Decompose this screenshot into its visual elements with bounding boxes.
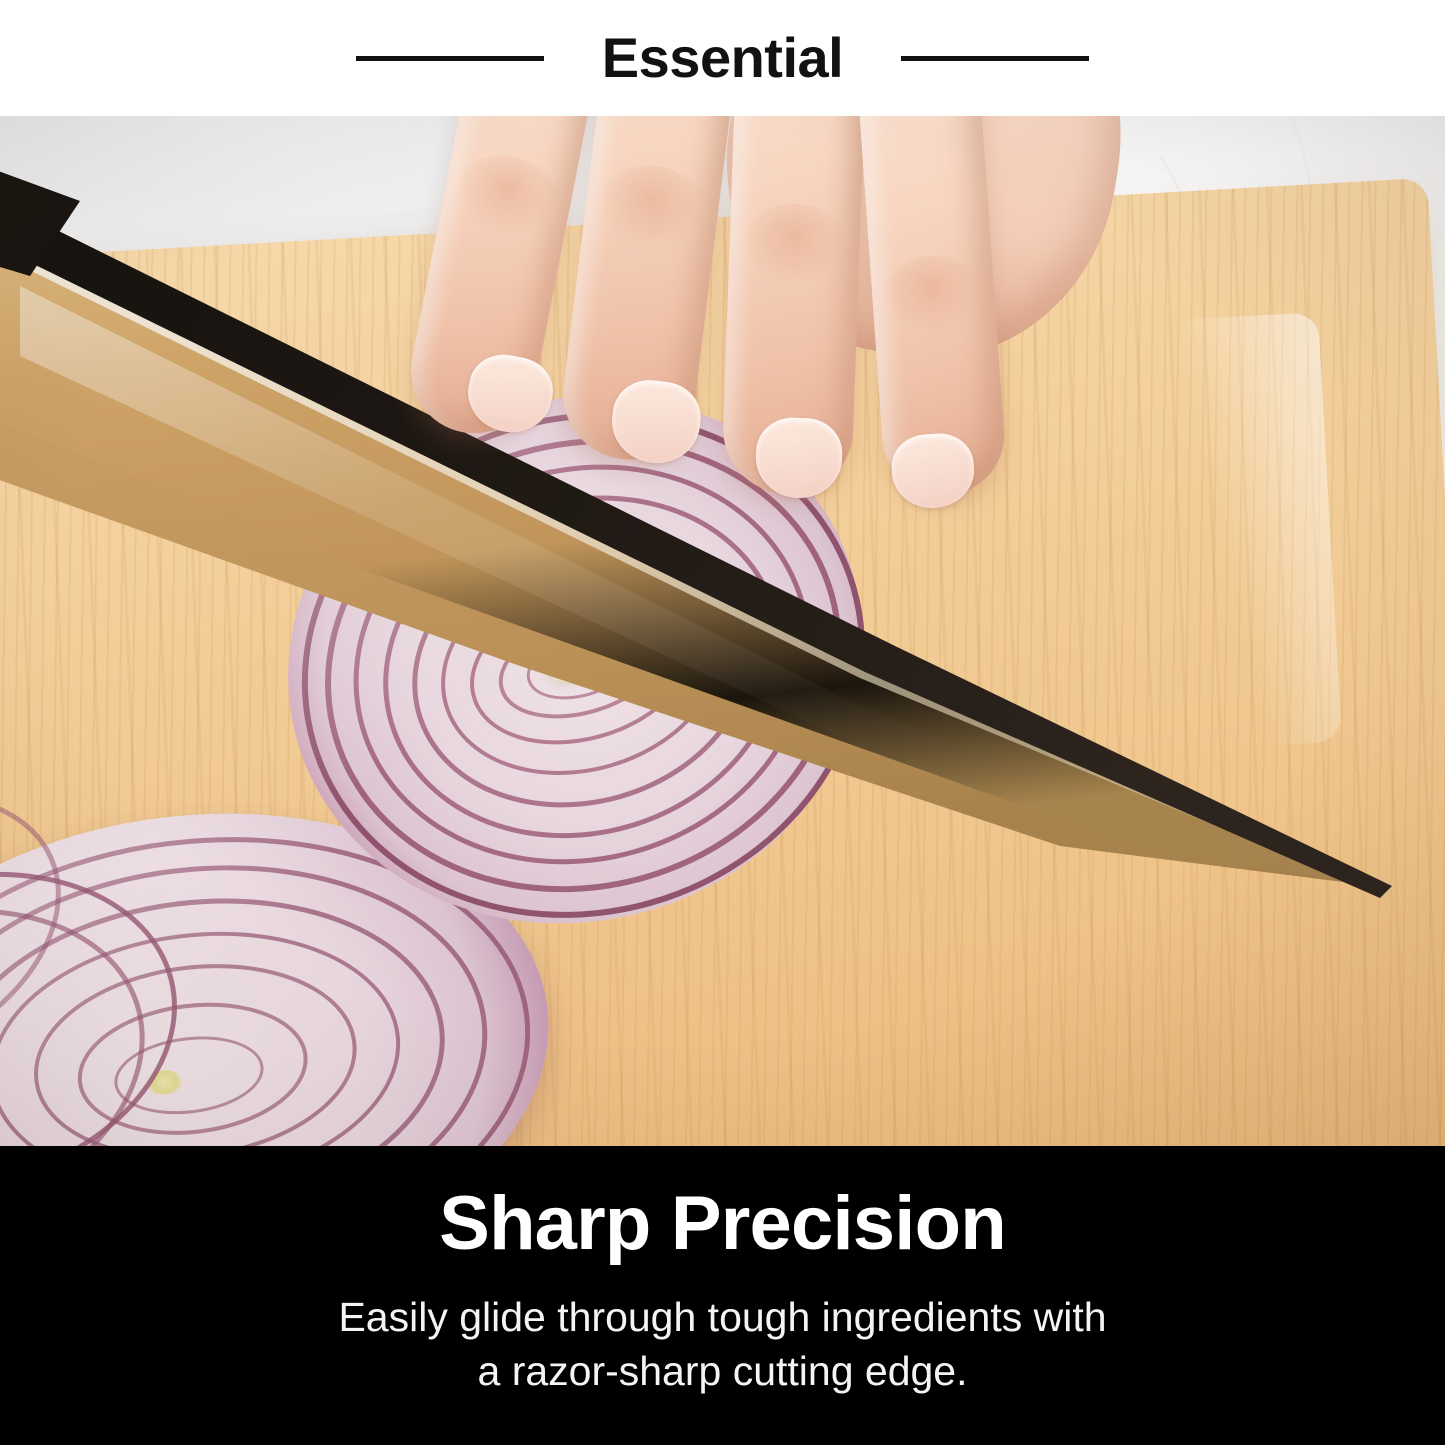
product-photo: [0, 116, 1445, 1146]
knuckle: [740, 202, 849, 288]
fingernail: [890, 431, 977, 511]
headline: Sharp Precision: [439, 1186, 1006, 1262]
eyebrow-label: Essential: [602, 30, 843, 86]
subtitle-line-2: a razor-sharp cutting edge.: [478, 1344, 968, 1398]
rule-left-icon: [356, 56, 544, 61]
header-band: Essential: [0, 0, 1445, 116]
subtitle-line-1: Easily glide through tough ingredients w…: [338, 1290, 1106, 1344]
rule-right-icon: [901, 56, 1089, 61]
knuckle: [448, 147, 565, 245]
knuckle: [880, 253, 985, 338]
footer-caption-band: Sharp Precision Easily glide through tou…: [0, 1146, 1445, 1445]
product-feature-card: Essential: [0, 0, 1445, 1445]
hand: [400, 116, 1100, 606]
knuckle: [593, 160, 710, 257]
